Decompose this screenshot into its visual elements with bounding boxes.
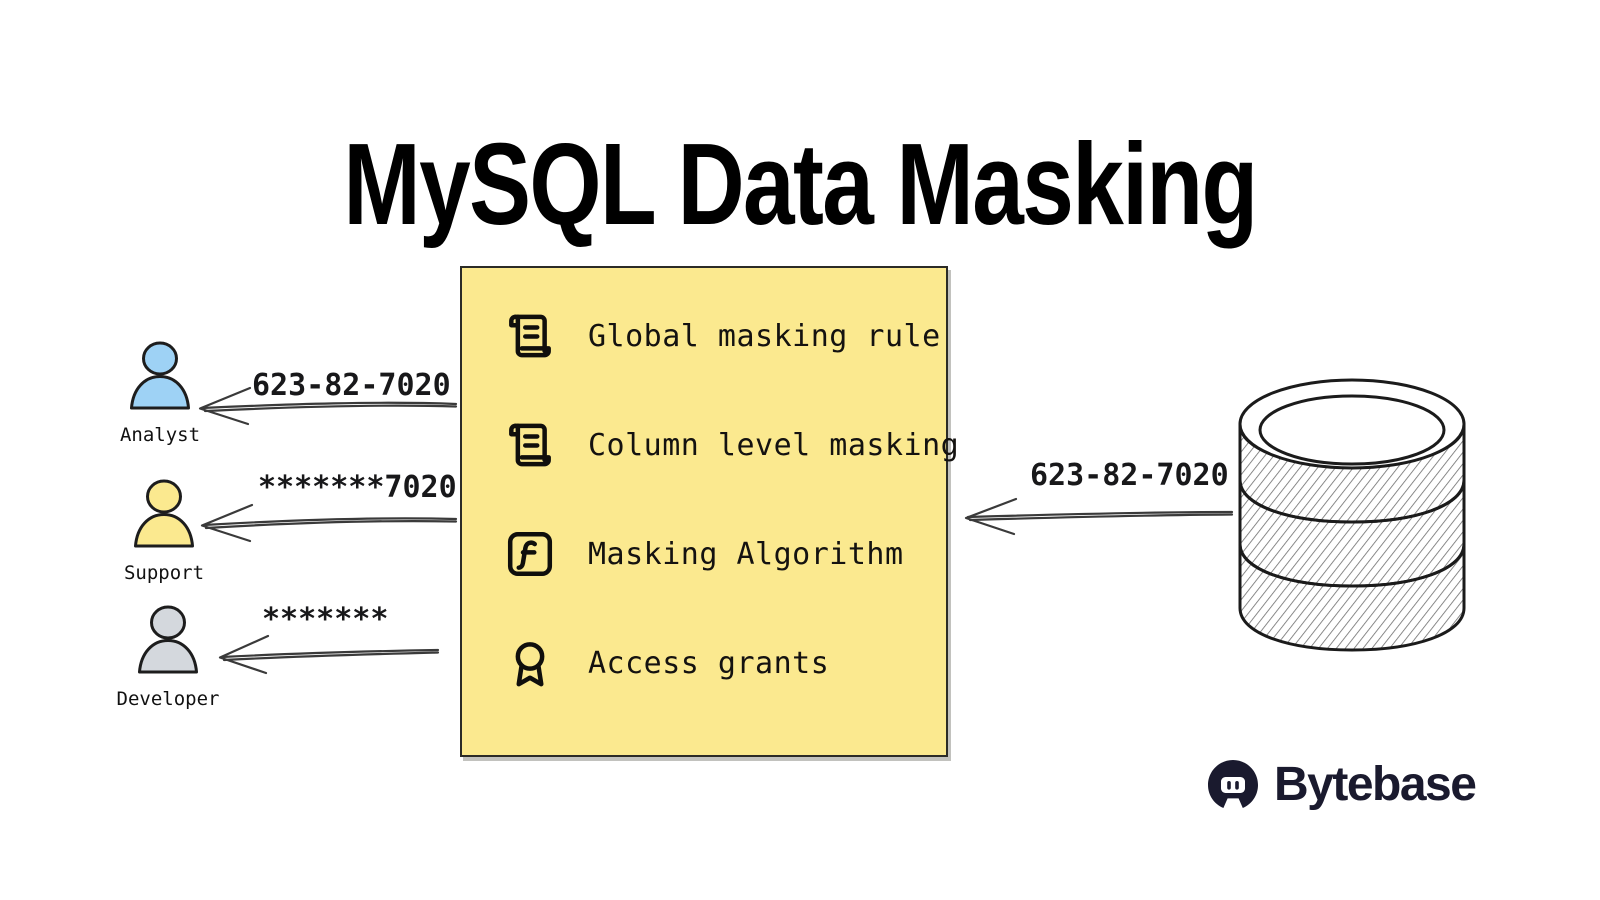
person-icon xyxy=(129,602,207,686)
persona-label: Analyst xyxy=(100,424,220,446)
feature-row-masking-algorithm[interactable]: Masking Algorithm xyxy=(502,522,930,586)
function-icon xyxy=(502,526,558,582)
arrow-to-support xyxy=(202,505,456,541)
feature-row-global-masking-rule[interactable]: Global masking rule xyxy=(502,304,930,368)
bytebase-logo: Bytebase xyxy=(1206,758,1475,812)
bytebase-logo-icon xyxy=(1206,758,1260,812)
feature-label: Global masking rule xyxy=(588,319,941,354)
arrow-from-database xyxy=(966,499,1232,534)
masking-features-card: Global masking rule Column level masking xyxy=(460,266,948,757)
flow-value-support: *******7020 xyxy=(258,470,457,505)
diagram-canvas: MySQL Data Masking xyxy=(0,0,1600,900)
persona-analyst[interactable]: Analyst xyxy=(100,338,220,446)
award-icon xyxy=(502,635,558,691)
person-icon xyxy=(125,476,203,560)
person-icon xyxy=(121,338,199,422)
persona-support[interactable]: Support xyxy=(104,476,224,584)
flow-value-analyst: 623-82-7020 xyxy=(252,368,451,403)
flow-value-source: 623-82-7020 xyxy=(1030,458,1229,493)
page-title: MySQL Data Masking xyxy=(160,126,1440,242)
masking-feature-list: Global masking rule Column level masking xyxy=(502,304,930,695)
feature-row-access-grants[interactable]: Access grants xyxy=(502,631,930,695)
scroll-icon xyxy=(502,308,558,364)
arrow-to-developer xyxy=(220,636,438,673)
database-icon xyxy=(1232,372,1472,654)
bytebase-wordmark: Bytebase xyxy=(1274,761,1475,809)
feature-row-column-level-masking[interactable]: Column level masking xyxy=(502,413,930,477)
feature-label: Access grants xyxy=(588,646,829,681)
feature-label: Column level masking xyxy=(588,428,959,463)
persona-label: Developer xyxy=(108,688,228,710)
feature-label: Masking Algorithm xyxy=(588,537,904,572)
flow-value-developer: ******* xyxy=(262,602,388,637)
persona-developer[interactable]: Developer xyxy=(108,602,228,710)
scroll-icon xyxy=(502,417,558,473)
persona-label: Support xyxy=(104,562,224,584)
